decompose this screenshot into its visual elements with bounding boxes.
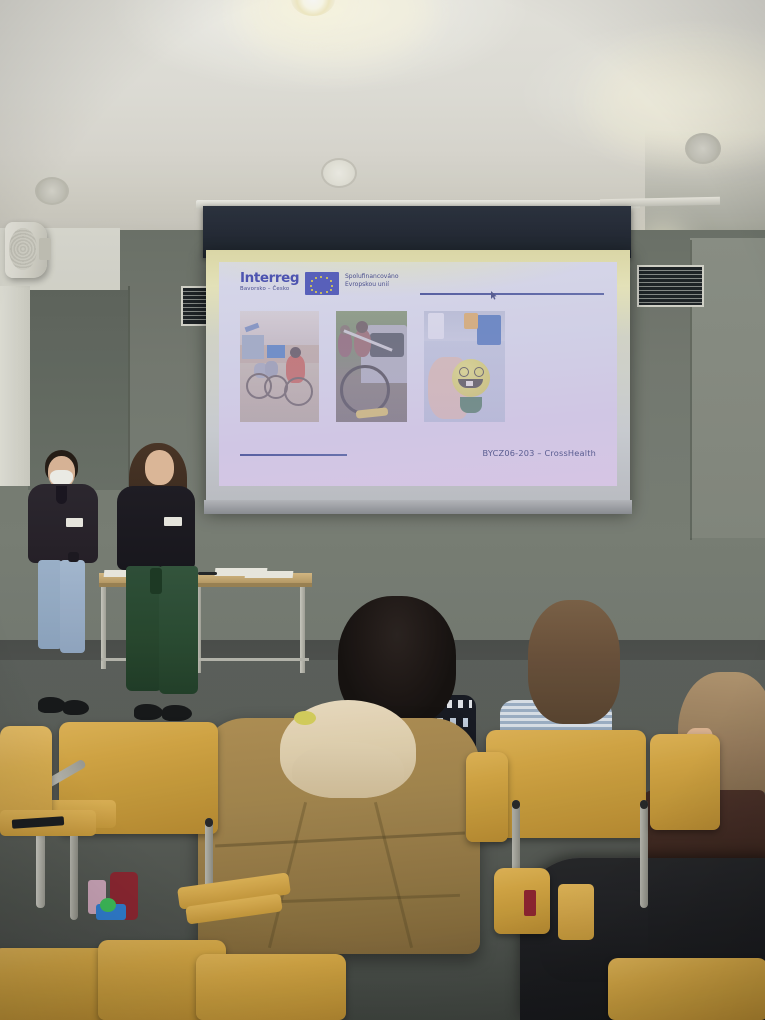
- name-badge: [66, 518, 83, 527]
- interreg-wordmark: Interreg: [240, 271, 299, 285]
- eu-cofunding-text: Spolufinancováno Evropskou unií: [345, 273, 399, 289]
- left-wall-column: [0, 286, 30, 486]
- left-wall-panel: [28, 290, 128, 490]
- ceiling-speaker: [685, 133, 721, 164]
- wall-speaker: [5, 222, 47, 278]
- head: [145, 450, 174, 485]
- table-leg: [101, 587, 106, 669]
- sweatshirt: [117, 486, 195, 570]
- slide-photo-wheelchair-car: [336, 311, 407, 422]
- trouser-tie: [150, 568, 162, 594]
- wall-seam: [128, 286, 130, 486]
- shoe: [162, 705, 192, 721]
- mouse-cursor-icon: [491, 291, 496, 298]
- trouser-leg: [159, 566, 198, 694]
- eu-flag-icon: [305, 272, 339, 295]
- footer-rule: [240, 454, 347, 456]
- screen-bottom-bar: [204, 500, 632, 514]
- eu-cofunding-line1: Spolufinancováno: [345, 273, 399, 281]
- hood-inner: [292, 742, 404, 798]
- hair: [528, 600, 620, 724]
- eu-cofunding-line2: Evropskou unií: [345, 281, 399, 289]
- interreg-logo: Interreg Bavorsko – Česko: [240, 271, 299, 292]
- speaker-bracket: [39, 238, 51, 260]
- bottle: [524, 890, 536, 916]
- pen: [198, 572, 217, 575]
- interreg-subtitle: Bavorsko – Česko: [240, 286, 299, 292]
- hood: [56, 486, 67, 504]
- held-phone: [68, 552, 79, 562]
- paper-sheet: [245, 571, 294, 578]
- speaker-cone: [9, 228, 37, 270]
- slide-photo-wheelchair-gym: [240, 311, 319, 422]
- name-badge: [164, 517, 182, 526]
- ceiling-light: [321, 158, 357, 188]
- projected-slide: Interreg Bavorsko – Česko Spolufinancová…: [219, 262, 617, 486]
- slide-project-code: BYCZ06-203 – CrossHealth: [483, 448, 596, 458]
- vent-right-icon: [637, 265, 704, 307]
- shoe: [63, 700, 89, 715]
- header-rule: [420, 293, 604, 295]
- lecture-hall-photo: Interreg Bavorsko – Česko Spolufinancová…: [0, 0, 765, 1020]
- jeans-leg: [60, 560, 85, 653]
- shoe: [134, 704, 163, 720]
- slide-photo-smiley-ball: [424, 311, 505, 422]
- floor-item: [100, 898, 116, 912]
- ceiling-speaker: [35, 177, 69, 205]
- cup: [294, 711, 316, 725]
- shoe: [38, 697, 66, 713]
- jeans-leg: [38, 560, 62, 649]
